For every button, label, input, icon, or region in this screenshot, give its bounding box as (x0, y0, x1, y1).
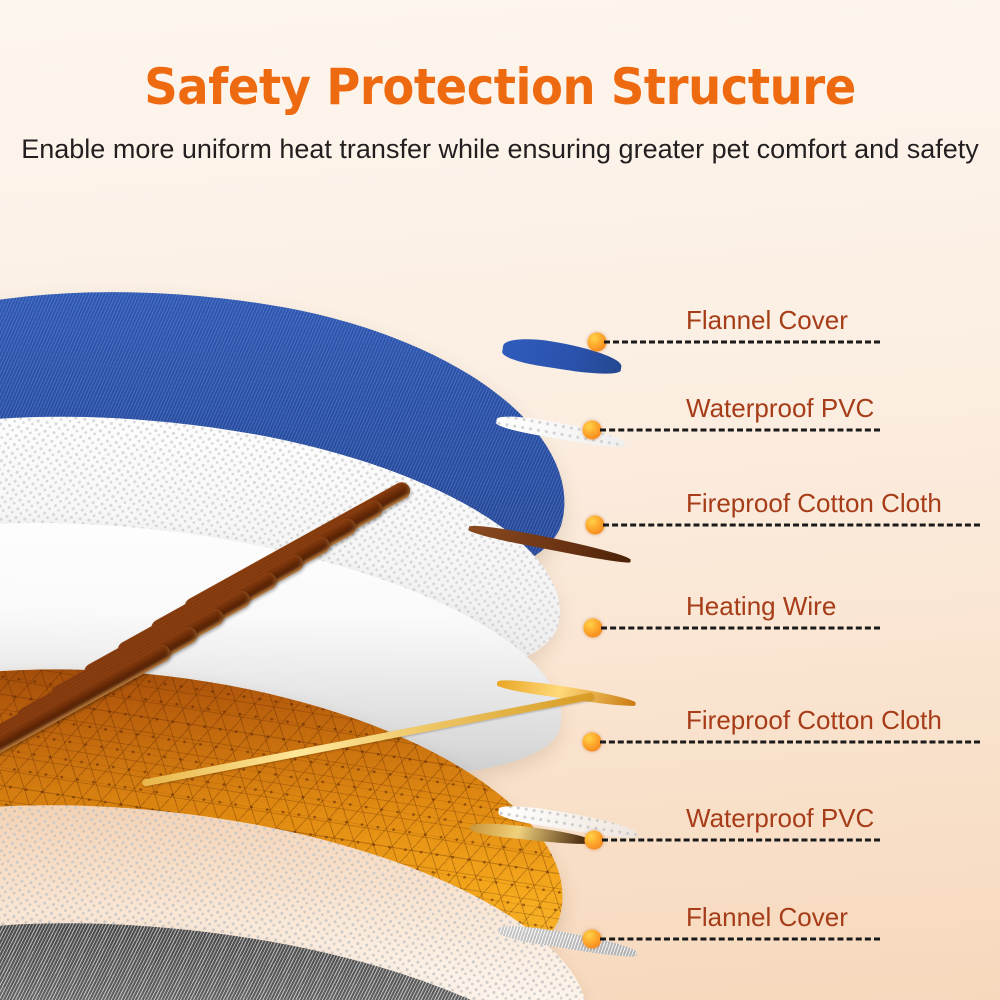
callout-label: Flannel Cover (686, 904, 848, 930)
callout-dot-icon (583, 930, 602, 949)
callout-leader-line (600, 741, 980, 744)
callout-leader-line (603, 524, 980, 527)
callout-dot-icon (585, 831, 604, 850)
callout-label: Fireproof Cotton Cloth (686, 490, 942, 516)
callout-leader-line (600, 429, 880, 432)
infographic-page: Safety Protection Structure Enable more … (0, 0, 1000, 1000)
header: Safety Protection Structure Enable more … (0, 0, 1000, 166)
callout-leader-line (601, 627, 880, 630)
layer-heating-wire (0, 540, 700, 840)
heating-wire-serpentine (0, 540, 640, 790)
page-subtitle: Enable more uniform heat transfer while … (0, 116, 1000, 166)
wire-gold-rail (142, 692, 595, 787)
callout-label: Heating Wire (686, 593, 836, 619)
callout-leader-line (600, 938, 880, 941)
callout-dot-icon (584, 619, 603, 638)
page-title: Safety Protection Structure (35, 0, 965, 116)
callout-label: Waterproof PVC (686, 395, 874, 421)
callout-label: Fireproof Cotton Cloth (686, 707, 942, 733)
callout-label: Flannel Cover (686, 307, 848, 333)
callout-dot-icon (586, 516, 605, 535)
callout-dot-icon (583, 733, 602, 752)
callout-leader-line (604, 341, 880, 344)
callout-leader-line (602, 839, 880, 842)
callout-label: Waterproof PVC (686, 805, 874, 831)
callout-dot-icon (583, 421, 602, 440)
